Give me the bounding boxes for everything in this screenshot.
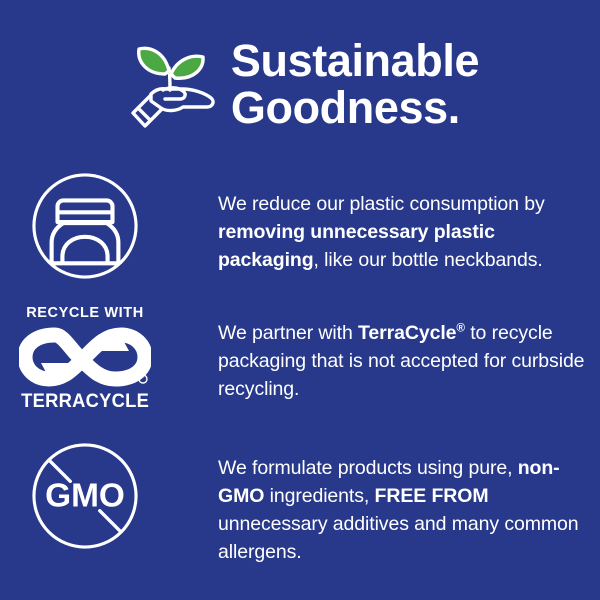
page-title-line-1: Sustainable <box>231 37 479 84</box>
header: Sustainable Goodness. <box>0 24 600 144</box>
no-gmo-icon: GMO <box>0 442 170 550</box>
feature-row-plastic: We reduce our plastic consumption by rem… <box>0 172 600 280</box>
gmo-label: GMO <box>45 478 125 515</box>
terracycle-bottom-label: TERRACYCLE <box>21 391 149 411</box>
feature-text-plastic: We reduce our plastic consumption by rem… <box>170 172 600 274</box>
sustainability-infographic: Sustainable Goodness. We reduce our plas… <box>0 0 600 600</box>
feature-row-terracycle: RECYCLE WITH TERRACYCLE We partner with … <box>0 305 600 411</box>
page-title: Sustainable Goodness. <box>231 37 479 131</box>
feature-row-gmo: GMO We formulate products using pure, no… <box>0 442 600 566</box>
feature-text-terracycle: We partner with TerraCycle® to recycle p… <box>170 305 600 403</box>
feature-text-gmo: We formulate products using pure, non-GM… <box>170 442 600 566</box>
bottle-in-circle-icon <box>0 172 170 280</box>
terracycle-top-label: RECYCLE WITH <box>26 305 144 321</box>
terracycle-logo: RECYCLE WITH TERRACYCLE <box>0 305 170 411</box>
page-title-line-2: Goodness. <box>231 84 479 131</box>
hand-holding-sprout-icon <box>121 38 221 134</box>
infinity-recycle-arrows-icon <box>19 327 151 387</box>
